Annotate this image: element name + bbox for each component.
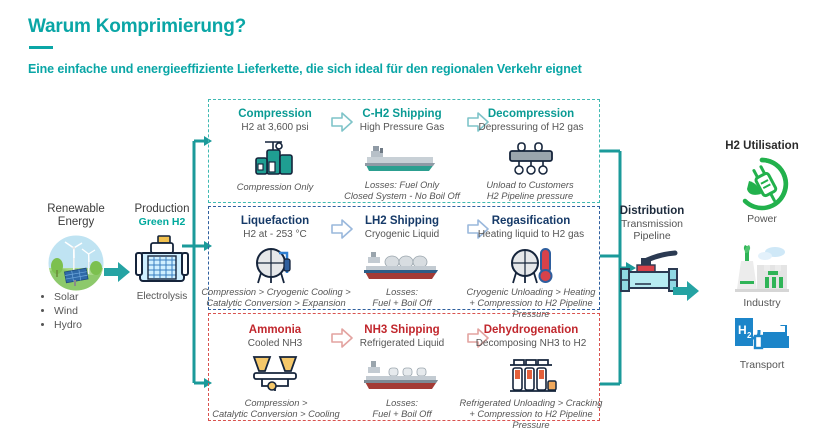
step-note-line: Compression Only (213, 182, 337, 193)
step-subtitle: Depressuring of H2 gas (465, 122, 597, 134)
step-heading: Decompression (465, 108, 597, 121)
step-subtitle: High Pressure Gas (337, 122, 467, 134)
step-note-line: Compression > Cryogenic Cooling > (201, 287, 351, 298)
leaf-plug-icon (692, 156, 832, 212)
step-heading: Dehydrogenation (461, 324, 601, 337)
svg-text:H: H (738, 323, 747, 337)
step-heading: Regasification (465, 215, 597, 228)
cell-ammonia-step2: NH3 Shipping Refrigerated Liquid (337, 324, 467, 350)
page-title: Warum Komprimierung? (28, 16, 246, 38)
renewable-title-line2: Energy (30, 216, 122, 229)
cryogenic-tank-icon (219, 245, 331, 285)
step-note-line: Catalytic Conversion > Expansion (201, 298, 351, 309)
step-note-line: Losses: (337, 287, 467, 298)
step-note-line: Catalytic Conversion > Cooling (203, 409, 349, 420)
factory-icon (692, 242, 832, 296)
step-subtitle: Decomposing NH3 to H2 (461, 338, 601, 350)
cell-liquefaction-step3: Regasification Heating liquid to H2 gas (465, 215, 597, 241)
cell-ammonia-note3: Refrigerated Unloading > Cracking + Comp… (453, 398, 609, 431)
step-heading: Ammonia (219, 324, 331, 337)
row-compression: Compression H2 at 3,600 psi Compre (208, 99, 600, 203)
utilisation-item-industry: Industry (692, 242, 832, 309)
cell-liquefaction-step2: LH2 Shipping Cryogenic Liquid (337, 215, 467, 241)
step-subtitle: Refrigerated Liquid (337, 338, 467, 350)
cell-compression-step1: Compression H2 at 3,600 psi (219, 108, 331, 134)
list-item: Hydro (54, 318, 82, 332)
distribution-title: Distribution (604, 205, 700, 218)
page-subtitle: Eine einfache und energieeffiziente Lief… (28, 62, 582, 76)
cracker-reactor-icon (465, 354, 597, 396)
tank-thermometer-icon (465, 245, 597, 285)
title-underline-rule (29, 46, 53, 49)
step-note-line: Closed System - No Boil Off (331, 191, 473, 202)
step-note-line: Fuel + Boil Off (337, 409, 467, 420)
cell-compression-step3: Decompression Depressuring of H2 gas (465, 108, 597, 134)
step-subtitle: Cooled NH3 (219, 338, 331, 350)
cell-ammonia-note2: Losses: Fuel + Boil Off (337, 398, 467, 420)
cell-compression-note2: Losses: Fuel Only Closed System - No Boi… (331, 180, 473, 202)
row-ammonia: Ammonia Cooled NH3 Compression > Catalyt… (208, 313, 600, 421)
distribution-subtitle: Transmission Pipeline (604, 218, 700, 242)
step-note-line: + Compression to H2 Pipeline Pressure (453, 409, 609, 431)
slide-canvas: Warum Komprimierung? Eine einfache und e… (0, 0, 832, 431)
h2-utilisation-title: H2 Utilisation (692, 140, 832, 152)
step-heading: C-H2 Shipping (337, 108, 467, 121)
ammonia-converter-icon (219, 354, 331, 396)
h2-fuel-car-icon: H 2 (692, 312, 832, 358)
renewable-bullet-list: Solar Wind Hydro (42, 290, 82, 332)
manifold-valves-icon (465, 140, 597, 178)
step-heading: Liquefaction (219, 215, 331, 228)
step-heading: LH2 Shipping (337, 215, 467, 228)
utilisation-item-transport: H 2 Transport (692, 312, 832, 371)
list-item: Solar (54, 290, 82, 304)
step-subtitle: Heating liquid to H2 gas (465, 229, 597, 241)
renewable-title-line1: Renewable (30, 203, 122, 216)
cell-ammonia-step1: Ammonia Cooled NH3 (219, 324, 331, 350)
step-heading: Compression (219, 108, 331, 121)
cell-compression-step2: C-H2 Shipping High Pressure Gas (337, 108, 467, 134)
list-item: Wind (54, 304, 82, 318)
cell-compression-note3: Unload to Customers H2 Pipeline pressure (459, 180, 601, 202)
cell-compression-note1: Compression Only (213, 182, 337, 193)
nh3-carrier-ship-icon (337, 356, 467, 394)
utilisation-label: Power (692, 213, 832, 225)
step-note-line: Cryogenic Unloading > Heating (453, 287, 609, 298)
step-note-line: Compression > (203, 398, 349, 409)
step-subtitle: Cryogenic Liquid (337, 229, 467, 241)
cell-ammonia-note1: Compression > Catalytic Conversion > Coo… (203, 398, 349, 420)
step-note-line: Fuel + Boil Off (337, 298, 467, 309)
cell-liquefaction-step1: Liquefaction H2 at - 253 °C (219, 215, 331, 241)
step-note-line: H2 Pipeline pressure (459, 191, 601, 202)
step-note-line: Refrigerated Unloading > Cracking (453, 398, 609, 409)
gas-carrier-ship-icon (337, 142, 467, 176)
cell-liquefaction-note1: Compression > Cryogenic Cooling > Cataly… (201, 287, 351, 309)
step-note-line: Losses: Fuel Only (331, 180, 473, 191)
step-subtitle: H2 at - 253 °C (219, 229, 331, 241)
svg-text:2: 2 (747, 331, 752, 340)
compressor-tanks-icon (219, 138, 331, 178)
cell-ammonia-step3: Dehydrogenation Decomposing NH3 to H2 (461, 324, 601, 350)
lng-carrier-ship-icon (337, 247, 467, 283)
row-liquefaction: Liquefaction H2 at - 253 °C Compress (208, 206, 600, 310)
utilisation-item-power: Power (692, 156, 832, 225)
step-subtitle: H2 at 3,600 psi (219, 122, 331, 134)
utilisation-label: Transport (692, 359, 832, 371)
cell-liquefaction-note2: Losses: Fuel + Boil Off (337, 287, 467, 309)
utilisation-label: Industry (692, 297, 832, 309)
step-note-line: Unload to Customers (459, 180, 601, 191)
step-note-line: Losses: (337, 398, 467, 409)
step-heading: NH3 Shipping (337, 324, 467, 337)
